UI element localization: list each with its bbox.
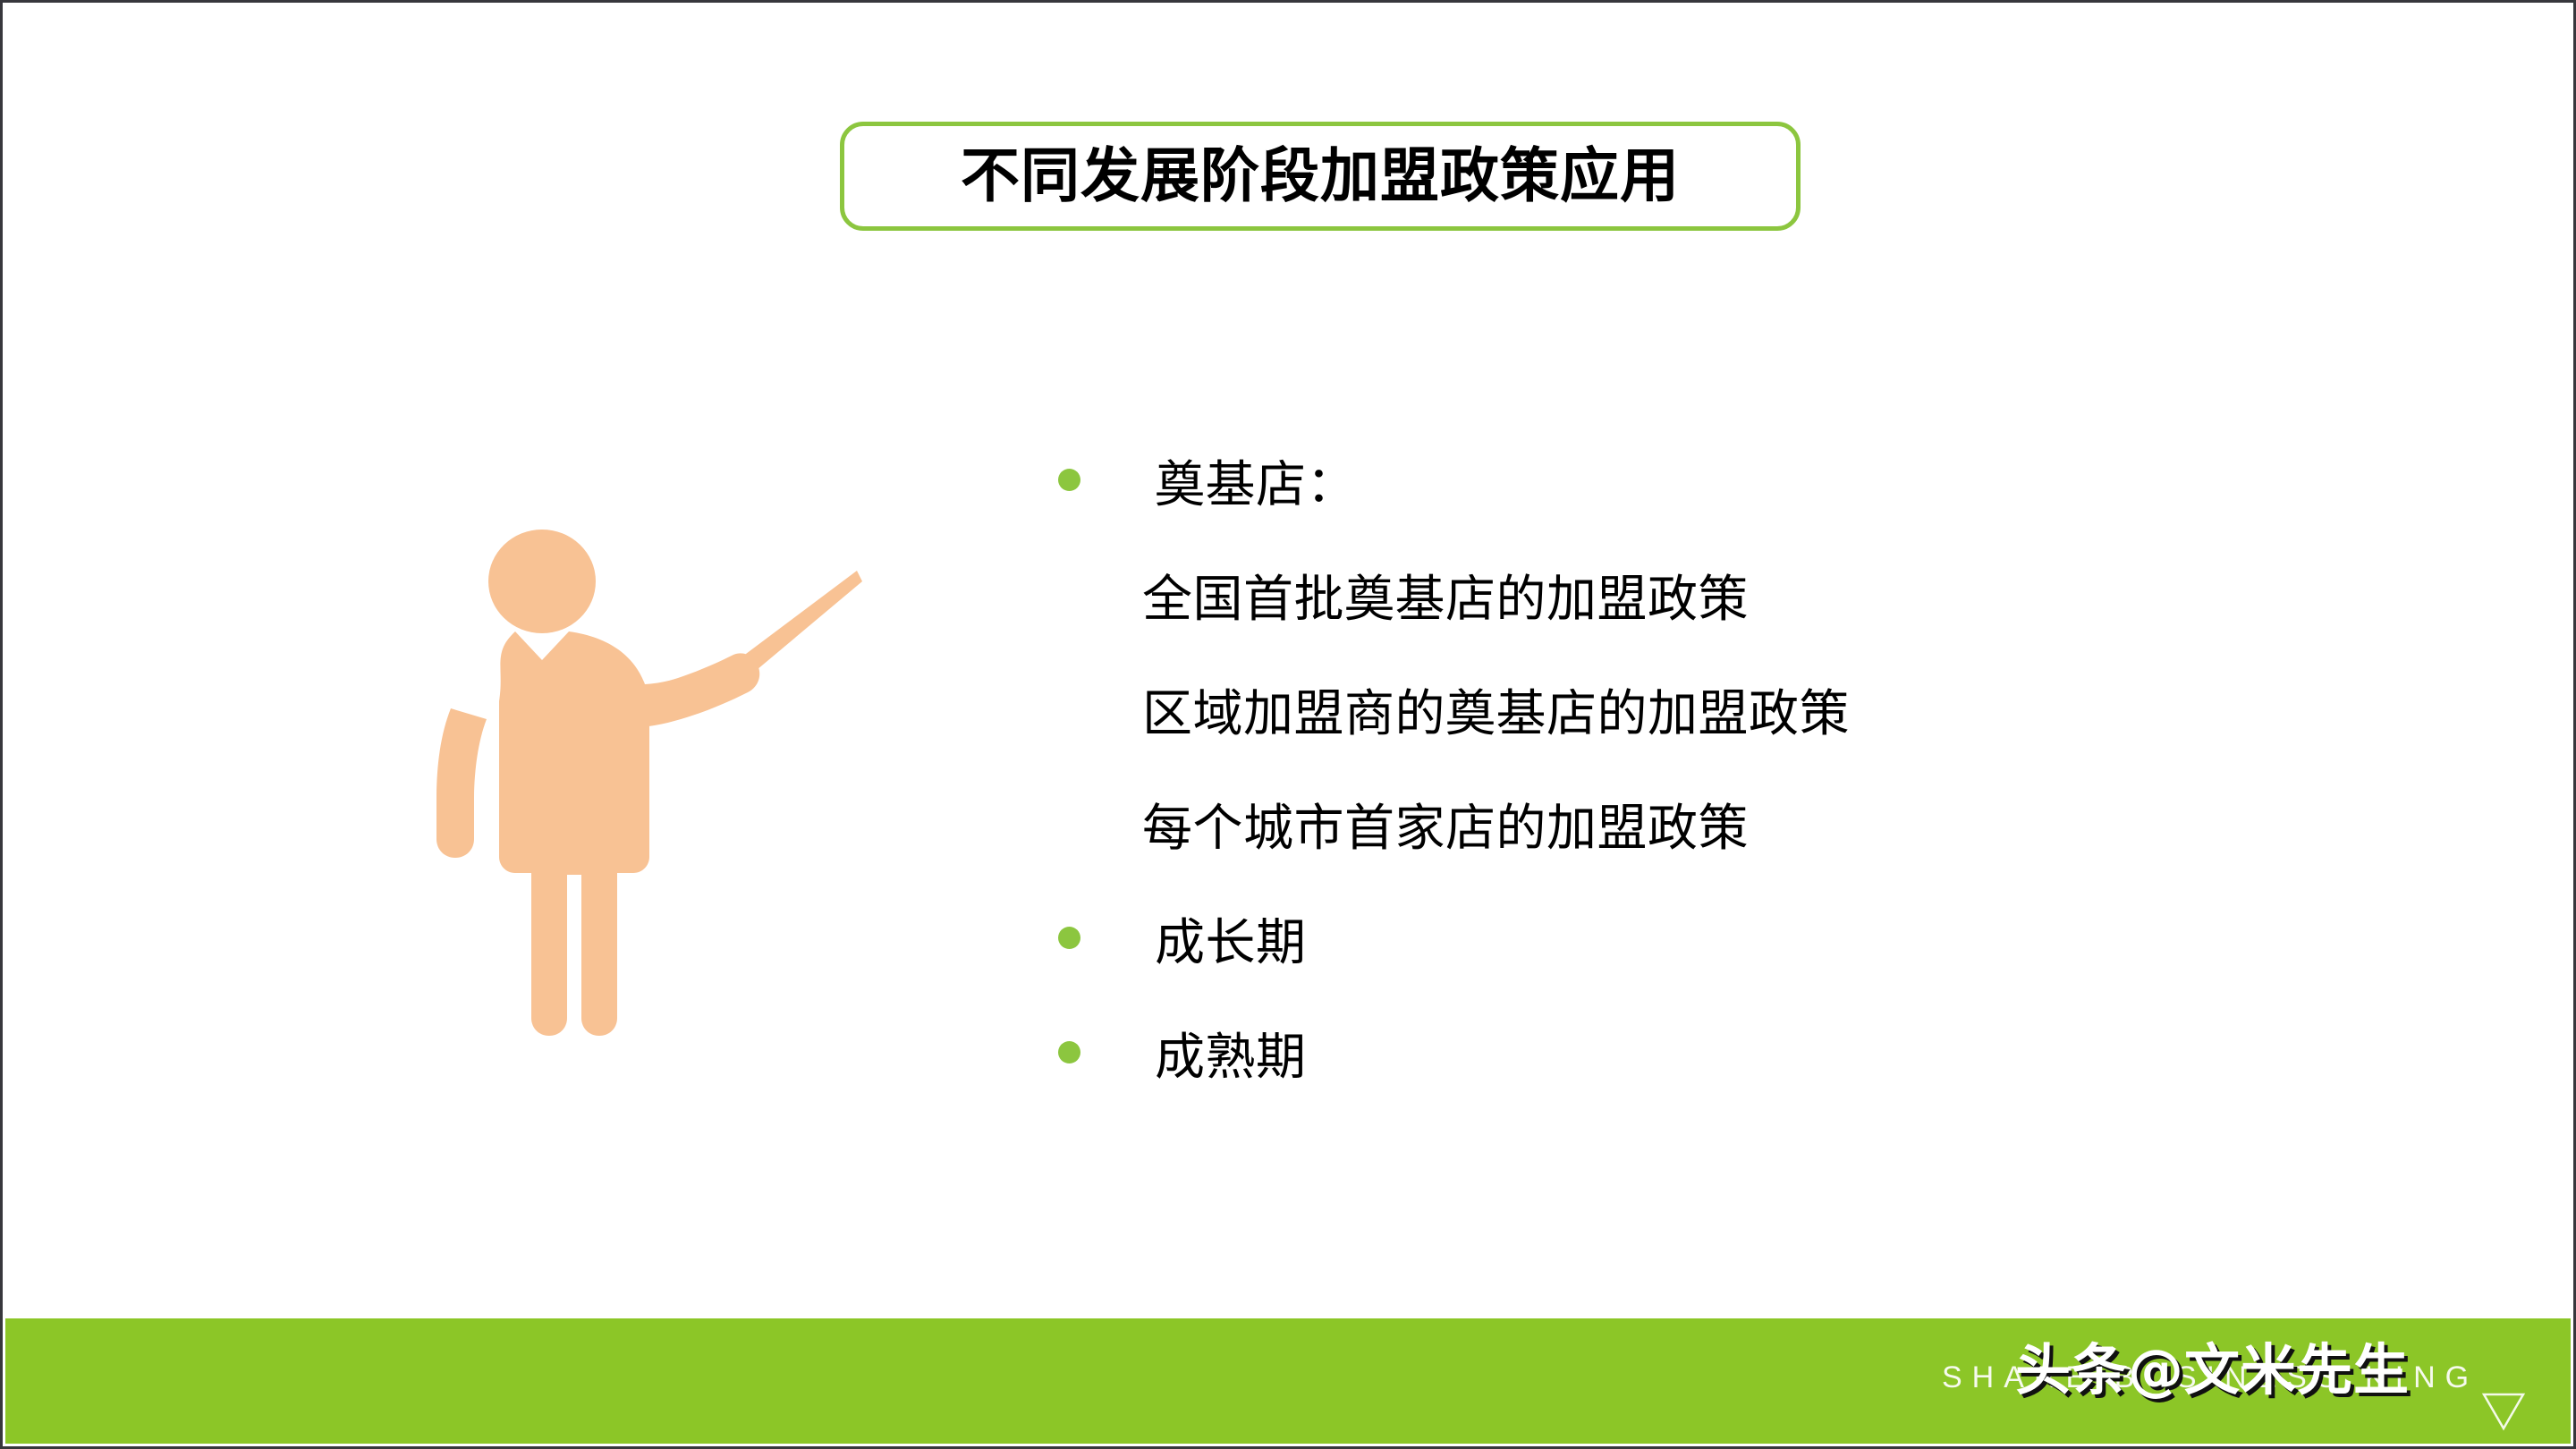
list-item: 区域加盟商的奠基店的加盟政策 [1040, 652, 2382, 767]
list-item: 成熟期 [1040, 996, 2382, 1110]
presenter-illustration [410, 517, 875, 1072]
diamond-outline-icon [2480, 1387, 2527, 1434]
watermark-label: 头条@文米先生 [2015, 1325, 2410, 1405]
list-item: 每个城市首家店的加盟政策 [1040, 767, 2382, 881]
slide-canvas: 不同发展阶段加盟政策应用 奠基店： 全国首批奠基店的加盟政策 [0, 0, 2576, 1449]
bullet-dot-icon [1058, 927, 1080, 949]
list-item-label: 奠基店： [1155, 423, 1357, 538]
bullet-dot-icon [1058, 1041, 1080, 1063]
list-item-label: 每个城市首家店的加盟政策 [1142, 767, 1749, 881]
list-item-label: 区域加盟商的奠基店的加盟政策 [1142, 652, 1850, 767]
slide-title-box: 不同发展阶段加盟政策应用 [840, 122, 1801, 231]
list-item: 成长期 [1040, 881, 2382, 996]
list-item: 奠基店： [1040, 423, 2382, 538]
list-item-label: 全国首批奠基店的加盟政策 [1142, 538, 1749, 652]
page-title: 不同发展阶段加盟政策应用 [961, 147, 1680, 206]
list-item-label: 成长期 [1155, 881, 1307, 996]
bullet-list: 奠基店： 全国首批奠基店的加盟政策 区域加盟商的奠基店的加盟政策 每个城市首家店… [1040, 423, 2382, 1110]
bullet-dot-icon [1058, 469, 1080, 491]
list-item-label: 成熟期 [1155, 996, 1307, 1110]
list-item: 全国首批奠基店的加盟政策 [1040, 538, 2382, 652]
